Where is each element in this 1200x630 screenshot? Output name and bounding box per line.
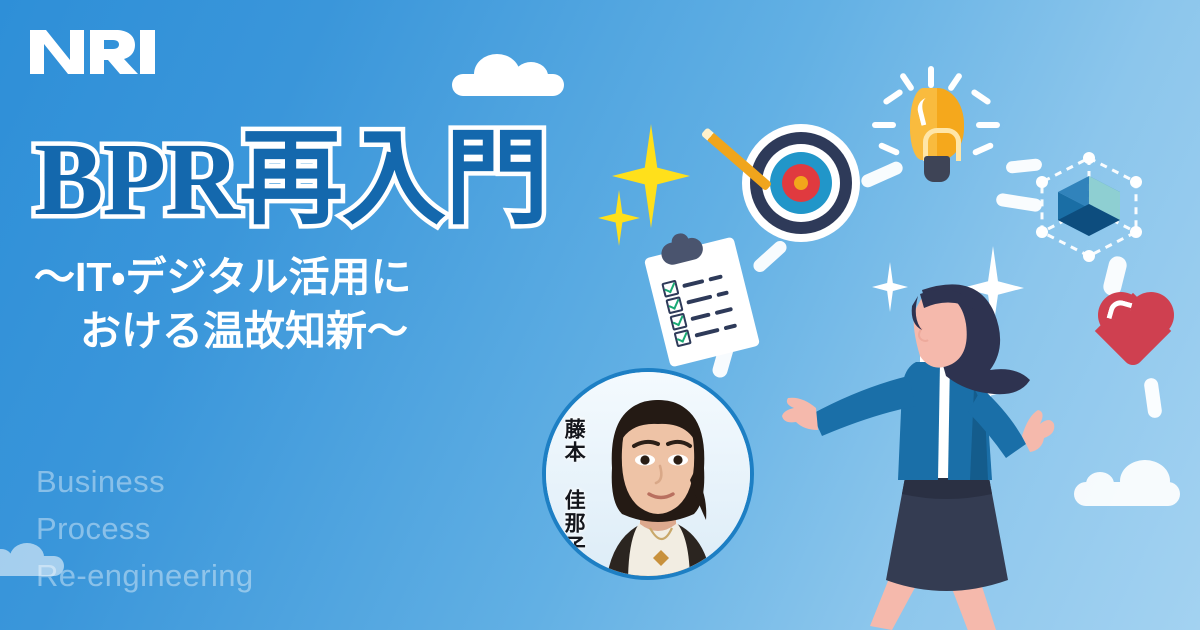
clipboard-icon bbox=[644, 237, 760, 368]
subtitle-line-2: おける温故知新〜 bbox=[34, 304, 654, 358]
businesswoman-illustration bbox=[778, 276, 1078, 630]
portrait-circle-frame: 藤本 佳那子 bbox=[542, 368, 754, 580]
bpr-word-business: Business bbox=[36, 458, 254, 505]
cube-icon bbox=[1030, 146, 1148, 266]
speaker-portrait: 藤本 佳那子 bbox=[542, 368, 754, 580]
banner-canvas: BPR再入門 〜IT・デジタル活用に おける温故知新〜 Business Pro… bbox=[0, 0, 1200, 630]
cloud-icon bbox=[452, 74, 564, 96]
heart-icon bbox=[1098, 292, 1176, 364]
page-subtitle: 〜IT・デジタル活用に おける温故知新〜 bbox=[34, 250, 654, 358]
connector-dash bbox=[1143, 377, 1162, 419]
nri-logo[interactable] bbox=[30, 22, 160, 82]
page-title: BPR再入門 bbox=[34, 128, 654, 232]
headline-block: BPR再入門 〜IT・デジタル活用に おける温故知新〜 bbox=[34, 128, 654, 358]
bpr-expansion-text: Business Process Re-engineering bbox=[36, 458, 254, 599]
bpr-word-process: Process bbox=[36, 505, 254, 552]
subtitle-line-1: 〜IT・デジタル活用に bbox=[34, 250, 654, 304]
sparkle-icon bbox=[598, 190, 640, 246]
connector-dash bbox=[751, 238, 789, 274]
speaker-name: 藤本 佳那子 bbox=[562, 418, 585, 558]
lightbulb-icon bbox=[898, 88, 976, 192]
cloud-icon bbox=[1074, 482, 1180, 506]
bpr-word-reengineering: Re-engineering bbox=[36, 552, 254, 599]
